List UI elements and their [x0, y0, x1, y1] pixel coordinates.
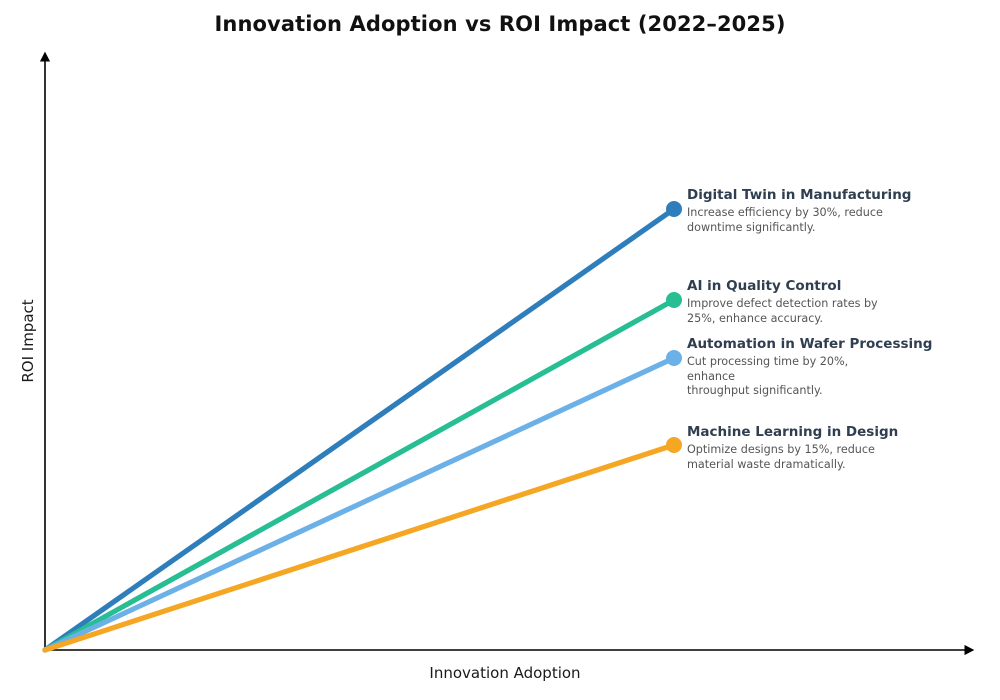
series-annotation-ai-quality-control: AI in Quality Control Improve defect det… [687, 279, 967, 326]
series-annotation-description: Improve defect detection rates by 25%, e… [687, 297, 892, 327]
series-annotation-heading: Digital Twin in Manufacturing [687, 188, 967, 204]
endpoint-marker-machine-learning-design[interactable] [666, 437, 682, 453]
y-axis-label: ROI Impact [19, 271, 37, 411]
series-annotation-description-line-1: Optimize designs by 15%, reduce [687, 443, 892, 458]
series-annotation-description: Optimize designs by 15%, reduce material… [687, 443, 892, 473]
series-line-automation-wafer [45, 358, 674, 650]
series-line-digital-twin [45, 209, 674, 650]
series-annotation-description-line-1: Cut processing time by 20%, enhance [687, 355, 892, 385]
series-annotation-machine-learning-design: Machine Learning in Design Optimize desi… [687, 425, 967, 472]
endpoint-marker-digital-twin[interactable] [666, 201, 682, 217]
endpoint-marker-automation-wafer[interactable] [666, 350, 682, 366]
series-annotation-automation-wafer: Automation in Wafer Processing Cut proce… [687, 337, 967, 399]
series-annotation-description-line-1: Increase efficiency by 30%, reduce [687, 206, 892, 221]
series-annotation-description-line-2: throughput significantly. [687, 384, 892, 399]
series-annotation-description-line-2: material waste dramatically. [687, 458, 892, 473]
series-annotation-heading: Machine Learning in Design [687, 425, 967, 441]
series-annotation-digital-twin: Digital Twin in Manufacturing Increase e… [687, 188, 967, 235]
chart-container: Innovation Adoption vs ROI Impact (2022–… [0, 0, 1000, 700]
series-annotation-description-line-2: downtime significantly. [687, 221, 892, 236]
series-annotation-heading: AI in Quality Control [687, 279, 967, 295]
x-axis-label: Innovation Adoption [0, 664, 1000, 682]
series-annotation-description-line-2: 25%, enhance accuracy. [687, 312, 892, 327]
series-annotation-description: Cut processing time by 20%, enhance thro… [687, 355, 892, 399]
series-annotation-description: Increase efficiency by 30%, reduce downt… [687, 206, 892, 236]
endpoint-marker-ai-quality-control[interactable] [666, 292, 682, 308]
series-annotation-description-line-1: Improve defect detection rates by [687, 297, 892, 312]
series-annotation-heading: Automation in Wafer Processing [687, 337, 967, 353]
